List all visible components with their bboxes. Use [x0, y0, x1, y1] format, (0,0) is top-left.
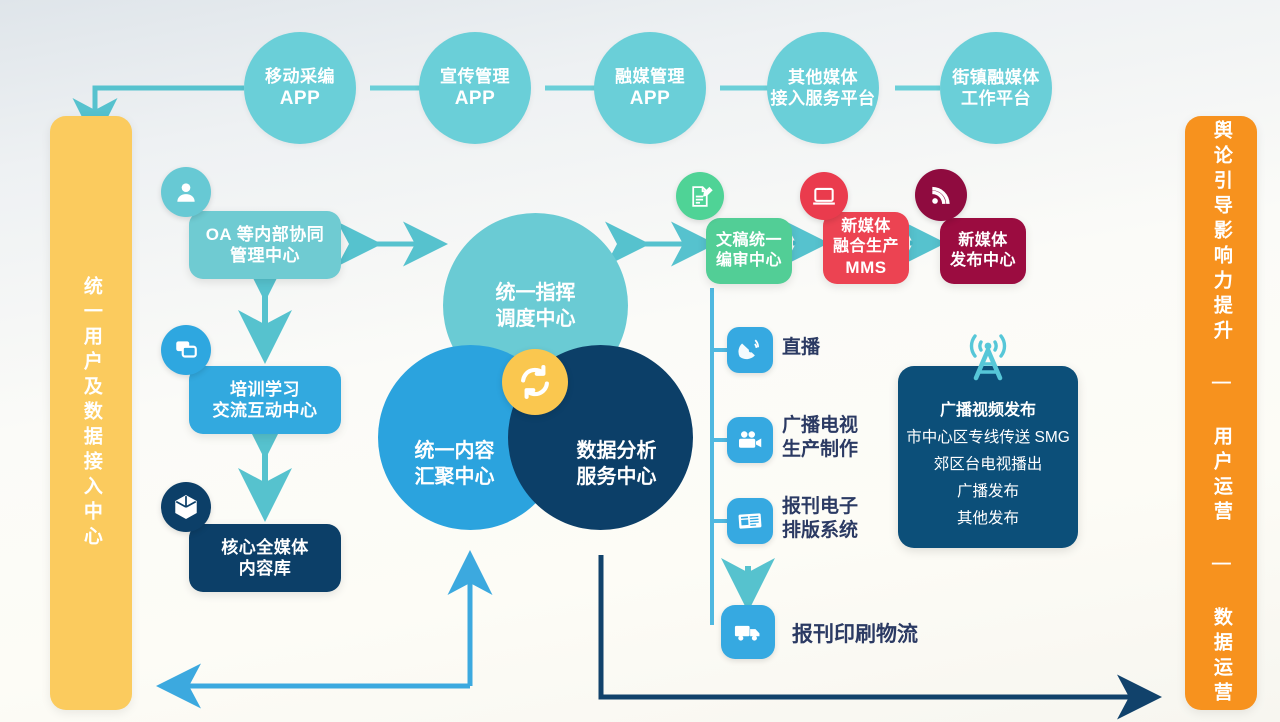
rss-icon: [915, 169, 967, 221]
channel-label-live: 直播: [782, 336, 820, 360]
flow-card-label-line2: 融合生产: [833, 237, 899, 257]
top-app-label-line1: 宣传管理: [440, 66, 510, 87]
channel-label-line2: 排版系统: [782, 519, 858, 543]
right-bar-label: 舆论引导影响力提升 — 用户运营 — 数据运营: [1209, 120, 1233, 707]
top-app-circle-4[interactable]: 其他媒体 接入服务平台: [767, 32, 879, 144]
left-card-label-line1: OA 等内部协同: [206, 224, 325, 245]
left-card-core-media-library[interactable]: 核心全媒体 内容库: [189, 524, 341, 592]
flow-card-label-line1: 新媒体: [833, 217, 899, 237]
venn-label-line2: 汇聚中心: [415, 464, 495, 490]
top-app-circle-3[interactable]: 融媒管理 APP: [594, 32, 706, 144]
left-card-training-center[interactable]: 培训学习 交流互动中心: [189, 366, 341, 434]
left-card-oa-center[interactable]: OA 等内部协同 管理中心: [189, 211, 341, 279]
flow-card-manuscript-review[interactable]: 文稿统一 编审中心: [706, 218, 792, 284]
left-bar-label: 统一用户及数据接入中心: [79, 276, 103, 551]
top-app-label-line2: 工作平台: [952, 88, 1040, 109]
top-app-label-line2: APP: [440, 87, 510, 111]
panel-line-2: 郊区台电视播出: [898, 452, 1078, 474]
truck-icon: [721, 605, 775, 659]
diagram-canvas: 移动采编 APP 宣传管理 APP 融媒管理 APP 其他媒体 接入服务平台 街…: [0, 0, 1280, 722]
channel-label-line2: 生产制作: [782, 438, 858, 462]
left-card-label-line2: 交流互动中心: [213, 400, 318, 421]
left-card-label-line1: 培训学习: [213, 379, 318, 400]
top-app-circle-1[interactable]: 移动采编 APP: [244, 32, 356, 144]
panel-line-3: 广播发布: [898, 479, 1078, 501]
flow-card-label-line1: 文稿统一: [716, 231, 782, 251]
flow-card-label-line3: MMS: [833, 257, 899, 278]
top-app-label-line1: 街镇融媒体: [952, 67, 1040, 88]
venn-label-line1: 数据分析: [577, 438, 657, 464]
channel-label-line1: 报刊电子: [782, 495, 858, 519]
left-card-label-line1: 核心全媒体: [221, 537, 309, 558]
sync-icon: [502, 349, 568, 415]
laptop-icon: [800, 172, 848, 220]
top-app-label-line2: 接入服务平台: [771, 88, 876, 109]
top-app-label-line1: 融媒管理: [615, 66, 685, 87]
top-app-circle-5[interactable]: 街镇融媒体 工作平台: [940, 32, 1052, 144]
chat-icon: [161, 325, 211, 375]
channel-label-line1: 直播: [782, 336, 820, 360]
venn-label-line1: 统一内容: [415, 438, 495, 464]
panel-line-4: 其他发布: [898, 506, 1078, 528]
satellite-dish-icon: [727, 327, 773, 373]
newspaper-layout-icon: [727, 498, 773, 544]
person-icon: [161, 167, 211, 217]
panel-title: 广播视频发布: [898, 396, 1078, 420]
panel-line-1: 市中心区专线传送 SMG: [898, 425, 1078, 447]
box-icon: [161, 482, 211, 532]
venn-label-line2: 服务中心: [577, 464, 657, 490]
channel-label-broadcast-tv: 广播电视 生产制作: [782, 414, 858, 462]
venn-label-line2: 调度中心: [496, 306, 576, 332]
broadcast-tower-icon: [952, 324, 1024, 396]
top-app-circle-2[interactable]: 宣传管理 APP: [419, 32, 531, 144]
video-camera-icon: [727, 417, 773, 463]
right-bar-public-opinion[interactable]: 舆论引导影响力提升 — 用户运营 — 数据运营: [1185, 116, 1257, 710]
left-card-label-line2: 管理中心: [206, 245, 325, 266]
top-app-label-line1: 移动采编: [265, 66, 335, 87]
flow-card-label-line1: 新媒体: [950, 231, 1016, 251]
left-card-label-line2: 内容库: [221, 558, 309, 579]
top-app-label-line2: APP: [265, 87, 335, 111]
top-app-label-line1: 其他媒体: [771, 67, 876, 88]
flow-card-newmedia-publish[interactable]: 新媒体 发布中心: [940, 218, 1026, 284]
flow-card-mms-production[interactable]: 新媒体 融合生产 MMS: [823, 212, 909, 284]
logistics-label: 报刊印刷物流: [792, 622, 918, 648]
channel-label-line1: 广播电视: [782, 414, 858, 438]
channel-label-newspaper-layout: 报刊电子 排版系统: [782, 495, 858, 543]
left-bar-unified-user-data-center[interactable]: 统一用户及数据接入中心: [50, 116, 132, 710]
venn-label-line1: 统一指挥: [496, 280, 576, 306]
flow-card-label-line2: 发布中心: [950, 251, 1016, 271]
top-app-label-line2: APP: [615, 87, 685, 111]
document-edit-icon: [676, 172, 724, 220]
flow-card-label-line2: 编审中心: [716, 251, 782, 271]
